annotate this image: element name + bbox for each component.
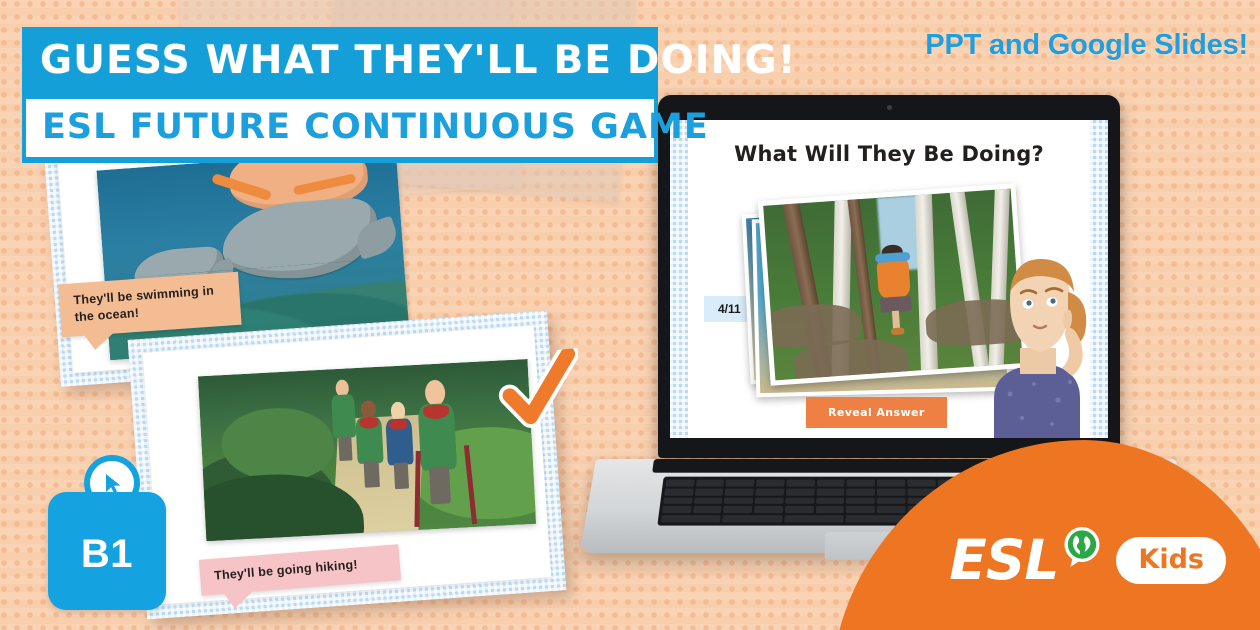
key bbox=[847, 480, 875, 487]
swimmer-arm bbox=[211, 173, 272, 201]
key bbox=[846, 497, 875, 504]
key bbox=[661, 515, 721, 522]
key bbox=[816, 488, 844, 495]
page-subtitle: ESL FUTURE CONTINUOUS GAME bbox=[26, 99, 654, 157]
slide-title: What Will They Be Doing? bbox=[688, 142, 1090, 166]
key bbox=[816, 497, 845, 504]
key bbox=[815, 506, 844, 513]
key bbox=[907, 480, 935, 487]
birch-trunk bbox=[914, 189, 938, 377]
backpack bbox=[876, 259, 911, 299]
presentation-slide[interactable]: What Will They Be Doing? 4/11 bbox=[688, 120, 1090, 438]
key bbox=[695, 488, 724, 495]
girl-thinking-character bbox=[976, 248, 1096, 438]
key bbox=[662, 506, 691, 513]
key bbox=[756, 480, 785, 487]
hiker-legs bbox=[338, 436, 352, 461]
trekking-pole bbox=[415, 451, 422, 527]
hiker-figure bbox=[385, 418, 414, 466]
key bbox=[786, 480, 814, 487]
key bbox=[723, 506, 752, 513]
key bbox=[877, 497, 905, 504]
laptop-screen: What Will They Be Doing? 4/11 bbox=[670, 120, 1108, 438]
key bbox=[817, 480, 845, 487]
brand-logo: ESL Kids bbox=[949, 525, 1226, 596]
key bbox=[877, 480, 905, 487]
key bbox=[786, 488, 815, 495]
forest-illustration bbox=[198, 359, 536, 541]
key bbox=[724, 497, 753, 504]
key bbox=[846, 506, 875, 513]
hiker-leg bbox=[892, 311, 900, 329]
key bbox=[877, 488, 905, 495]
laptop-lid: What Will They Be Doing? 4/11 bbox=[658, 95, 1120, 458]
key bbox=[785, 506, 814, 513]
formats-banner: PPT and Google Slides! bbox=[925, 29, 1248, 62]
poster-canvas: They'll be swimming in the ocean! They'l… bbox=[0, 0, 1260, 630]
key bbox=[754, 506, 783, 513]
key bbox=[877, 506, 906, 513]
key bbox=[755, 488, 784, 495]
reveal-answer-button[interactable]: Reveal Answer bbox=[806, 397, 947, 428]
subtitle-frame: ESL FUTURE CONTINUOUS GAME bbox=[22, 95, 658, 163]
hiker-boot bbox=[891, 327, 904, 335]
key bbox=[693, 506, 722, 513]
brand-sub-label: Kids bbox=[1116, 537, 1226, 584]
key bbox=[723, 515, 783, 522]
key bbox=[847, 488, 875, 495]
key bbox=[755, 497, 784, 504]
webcam-icon bbox=[887, 105, 892, 110]
key bbox=[694, 497, 723, 504]
hiker-leader-figure bbox=[417, 403, 457, 471]
check-mark-icon bbox=[494, 348, 586, 440]
page-title: GUESS WHAT THEY'LL BE DOING! bbox=[22, 27, 658, 95]
key bbox=[784, 515, 844, 522]
hiker-legs bbox=[429, 466, 451, 504]
brand-name: ESL bbox=[949, 533, 1058, 588]
key bbox=[785, 497, 814, 504]
key bbox=[663, 497, 692, 504]
hiker-legs bbox=[393, 463, 409, 490]
card-photo-hiking bbox=[198, 359, 536, 541]
key bbox=[665, 480, 694, 487]
level-badge-label: B1 bbox=[48, 532, 166, 577]
hiker-legs bbox=[363, 461, 379, 488]
poster-title-block: GUESS WHAT THEY'LL BE DOING! ESL FUTURE … bbox=[22, 27, 658, 163]
key bbox=[725, 488, 754, 495]
hiker-with-backpack bbox=[876, 259, 912, 321]
key bbox=[664, 488, 693, 495]
globe-speech-bubble-icon bbox=[1062, 525, 1102, 574]
key bbox=[696, 480, 725, 487]
hiker-figure bbox=[355, 416, 384, 464]
swimmer-arm bbox=[293, 173, 357, 195]
level-badge: B1 bbox=[48, 492, 166, 610]
key bbox=[726, 480, 755, 487]
hiker-figure bbox=[331, 395, 356, 439]
hiker-body bbox=[331, 395, 356, 439]
